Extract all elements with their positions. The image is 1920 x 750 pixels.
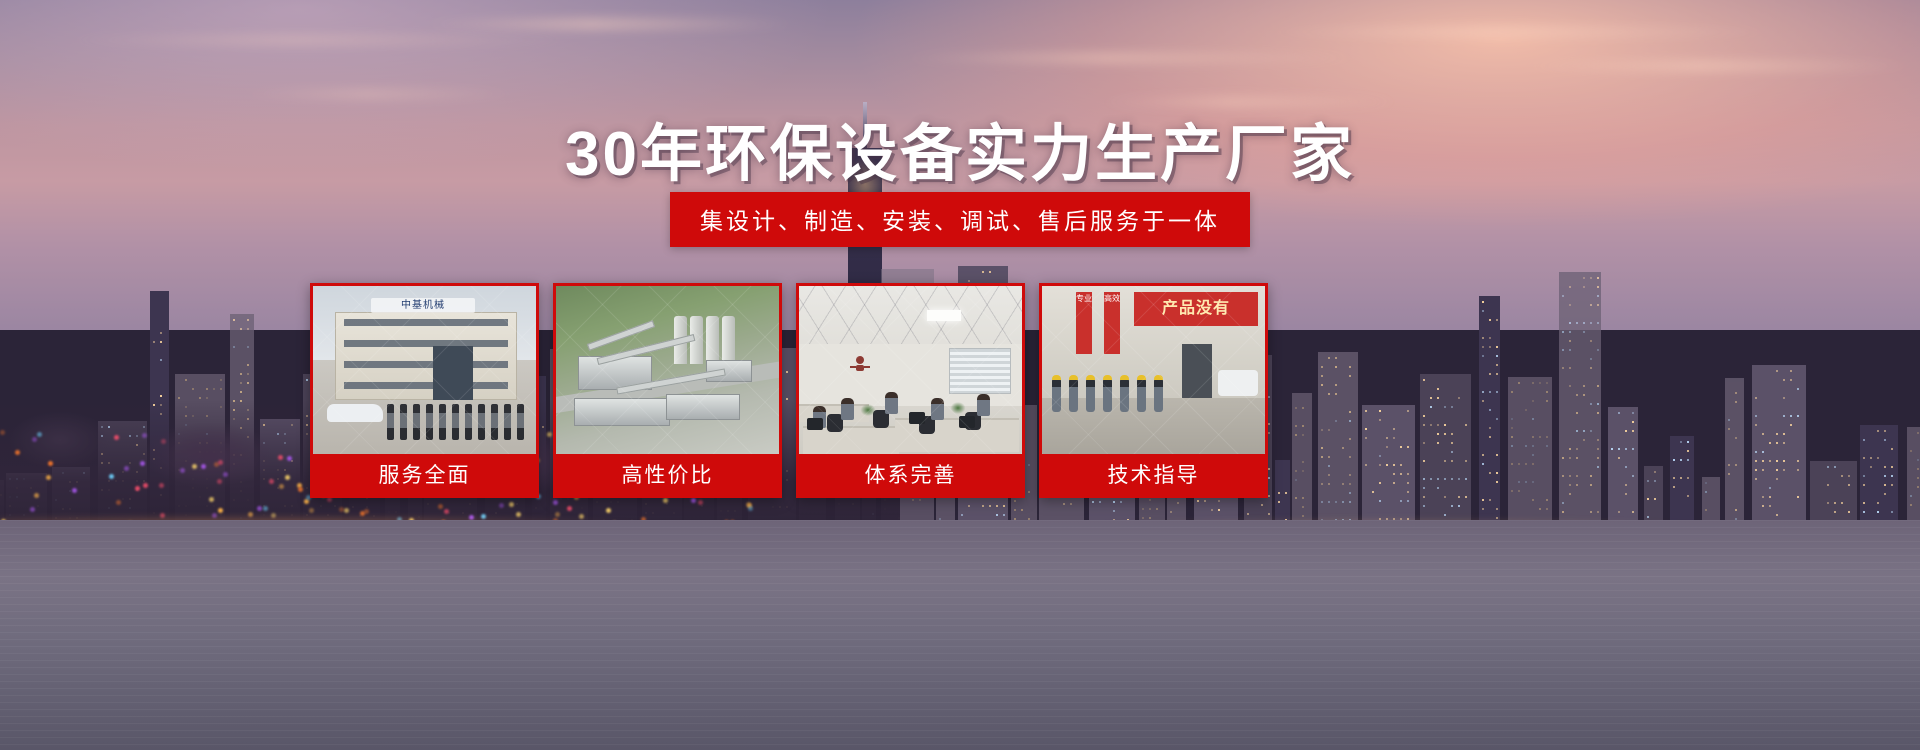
riverbank-light (140, 461, 145, 466)
office-plant (859, 402, 877, 418)
staff-member (478, 404, 485, 440)
feature-card-service[interactable]: 中基机械 服务全面 (310, 283, 539, 498)
riverbank-light (142, 433, 147, 438)
card-thumbnail-office-interior (799, 286, 1022, 454)
riverbank-light (499, 503, 504, 508)
card-thumbnail-headquarters: 中基机械 (313, 286, 536, 454)
riverbank-light (48, 461, 53, 466)
riverbank-light (109, 474, 114, 479)
riverbank-light (278, 455, 283, 460)
riverbank-light (218, 460, 223, 465)
office-desk (803, 426, 899, 454)
staff-member (452, 404, 459, 440)
banner-subtitle-bar: 集设计、制造、安装、调试、售后服务于一体 (670, 192, 1250, 247)
riverbank-light (161, 439, 166, 444)
riverbank-light (116, 500, 121, 505)
staff-member (439, 404, 446, 440)
factory-worker (1137, 378, 1146, 412)
riverbank-light (438, 504, 443, 509)
factory-worker (1154, 378, 1163, 412)
hard-hat (1103, 375, 1112, 380)
staff-member (387, 404, 394, 440)
riverbank-light (34, 493, 39, 498)
riverbank-light (279, 484, 284, 489)
hard-hat (1086, 375, 1095, 380)
computer-monitor (959, 416, 975, 428)
riverbank-light (159, 483, 164, 488)
riverbank-light (285, 475, 290, 480)
plant-building (666, 394, 740, 420)
staff-member (465, 404, 472, 440)
hard-hat (1154, 375, 1163, 380)
staff-member (491, 404, 498, 440)
factory-vehicle (1218, 370, 1258, 396)
riverbank-light (364, 509, 369, 514)
riverbank-light (553, 500, 558, 505)
window-blinds (949, 348, 1011, 394)
riverbank-light (567, 506, 572, 511)
office-ceiling (799, 286, 1022, 348)
riverbank-light (143, 483, 148, 488)
feature-card-guidance[interactable]: 产品没有 专业 高效 技术指导 (1039, 283, 1268, 498)
riverbank-light (217, 479, 222, 484)
card-caption: 技术指导 (1042, 454, 1265, 498)
riverbank-light (135, 486, 140, 491)
factory-worker (1052, 378, 1061, 412)
riverbank-light (606, 508, 611, 513)
riverbank-light (257, 506, 262, 511)
plant-building (574, 398, 670, 426)
hero-banner: 30年环保设备实力生产厂家 集设计、制造、安装、调试、售后服务于一体 中基机械 … (0, 0, 1920, 750)
building-sign-text: 中基机械 (373, 298, 473, 313)
card-thumbnail-factory-gate: 产品没有 专业 高效 (1042, 286, 1265, 454)
riverbank-light (114, 435, 119, 440)
riverbank-light (192, 464, 197, 469)
riverbank-light (15, 450, 20, 455)
riverbank-light (339, 507, 344, 512)
river-water (0, 520, 1920, 750)
card-thumbnail-plant-aerial (556, 286, 779, 454)
riverbank-light (298, 487, 303, 492)
ceiling-light-panel (927, 310, 961, 321)
computer-monitor (807, 418, 823, 430)
riverbank-light (309, 508, 314, 513)
staff-member (517, 404, 524, 440)
riverbank-light (209, 497, 214, 502)
riverbank-light (30, 507, 35, 512)
storage-silo (722, 316, 735, 364)
office-worker (841, 398, 854, 420)
wall-logo-icon (847, 352, 873, 374)
riverbank-light (263, 506, 268, 511)
office-building-shape (335, 312, 517, 400)
storage-silo (706, 316, 719, 364)
skyline-building (1479, 296, 1500, 540)
skyline-building (1559, 272, 1601, 540)
riverbank-light (663, 498, 668, 503)
hard-hat (1137, 375, 1146, 380)
riverbank-light (124, 466, 129, 471)
riverbank-light (46, 475, 51, 480)
parked-car (327, 404, 383, 422)
office-worker (977, 394, 990, 416)
riverbank-light (180, 468, 185, 473)
skyline-building (1752, 365, 1806, 540)
hard-hat (1120, 375, 1129, 380)
factory-banner-text: 产品没有 (1134, 292, 1258, 326)
feature-card-list: 中基机械 服务全面 高性价比 (310, 283, 1282, 498)
staff-member (504, 404, 511, 440)
riverbank-light (218, 508, 223, 513)
card-caption: 服务全面 (313, 454, 536, 498)
hard-hat (1052, 375, 1061, 380)
factory-worker (1069, 378, 1078, 412)
office-plant (949, 400, 967, 416)
banner-headline: 30年环保设备实力生产厂家 (0, 103, 1920, 193)
riverbank-light (344, 508, 349, 513)
staff-member (413, 404, 420, 440)
riverbank-light (72, 488, 77, 493)
office-worker (931, 398, 944, 420)
card-caption: 高性价比 (556, 454, 779, 498)
factory-worker (1120, 378, 1129, 412)
building-entrance (433, 346, 473, 400)
skyline-building (1318, 352, 1358, 540)
riverbank-light (698, 500, 703, 505)
vertical-banner-right-text: 高效 (1104, 294, 1120, 304)
riverbank-light (0, 430, 5, 435)
vertical-banner-left-text: 专业 (1076, 294, 1092, 304)
riverbank-light (269, 479, 274, 484)
riverbank-light (748, 506, 753, 511)
feature-card-system[interactable]: 体系完善 (796, 283, 1025, 498)
riverbank-light (223, 472, 228, 477)
riverbank-light (287, 456, 292, 461)
staff-member (400, 404, 407, 440)
feature-card-value[interactable]: 高性价比 (553, 283, 782, 498)
hard-hat (1069, 375, 1078, 380)
riverbank-light (444, 509, 449, 514)
wall-logo-decal (847, 352, 873, 374)
riverbank-light (691, 498, 696, 503)
factory-gate (1182, 344, 1212, 398)
office-worker (885, 392, 898, 414)
factory-worker (1103, 378, 1112, 412)
riverbank-light (509, 502, 514, 507)
factory-worker (1086, 378, 1095, 412)
staff-member (426, 404, 433, 440)
riverbank-light (201, 464, 206, 469)
riverbank-light (37, 432, 42, 437)
riverbank-light (32, 437, 37, 442)
computer-monitor (909, 412, 925, 424)
card-caption: 体系完善 (799, 454, 1022, 498)
